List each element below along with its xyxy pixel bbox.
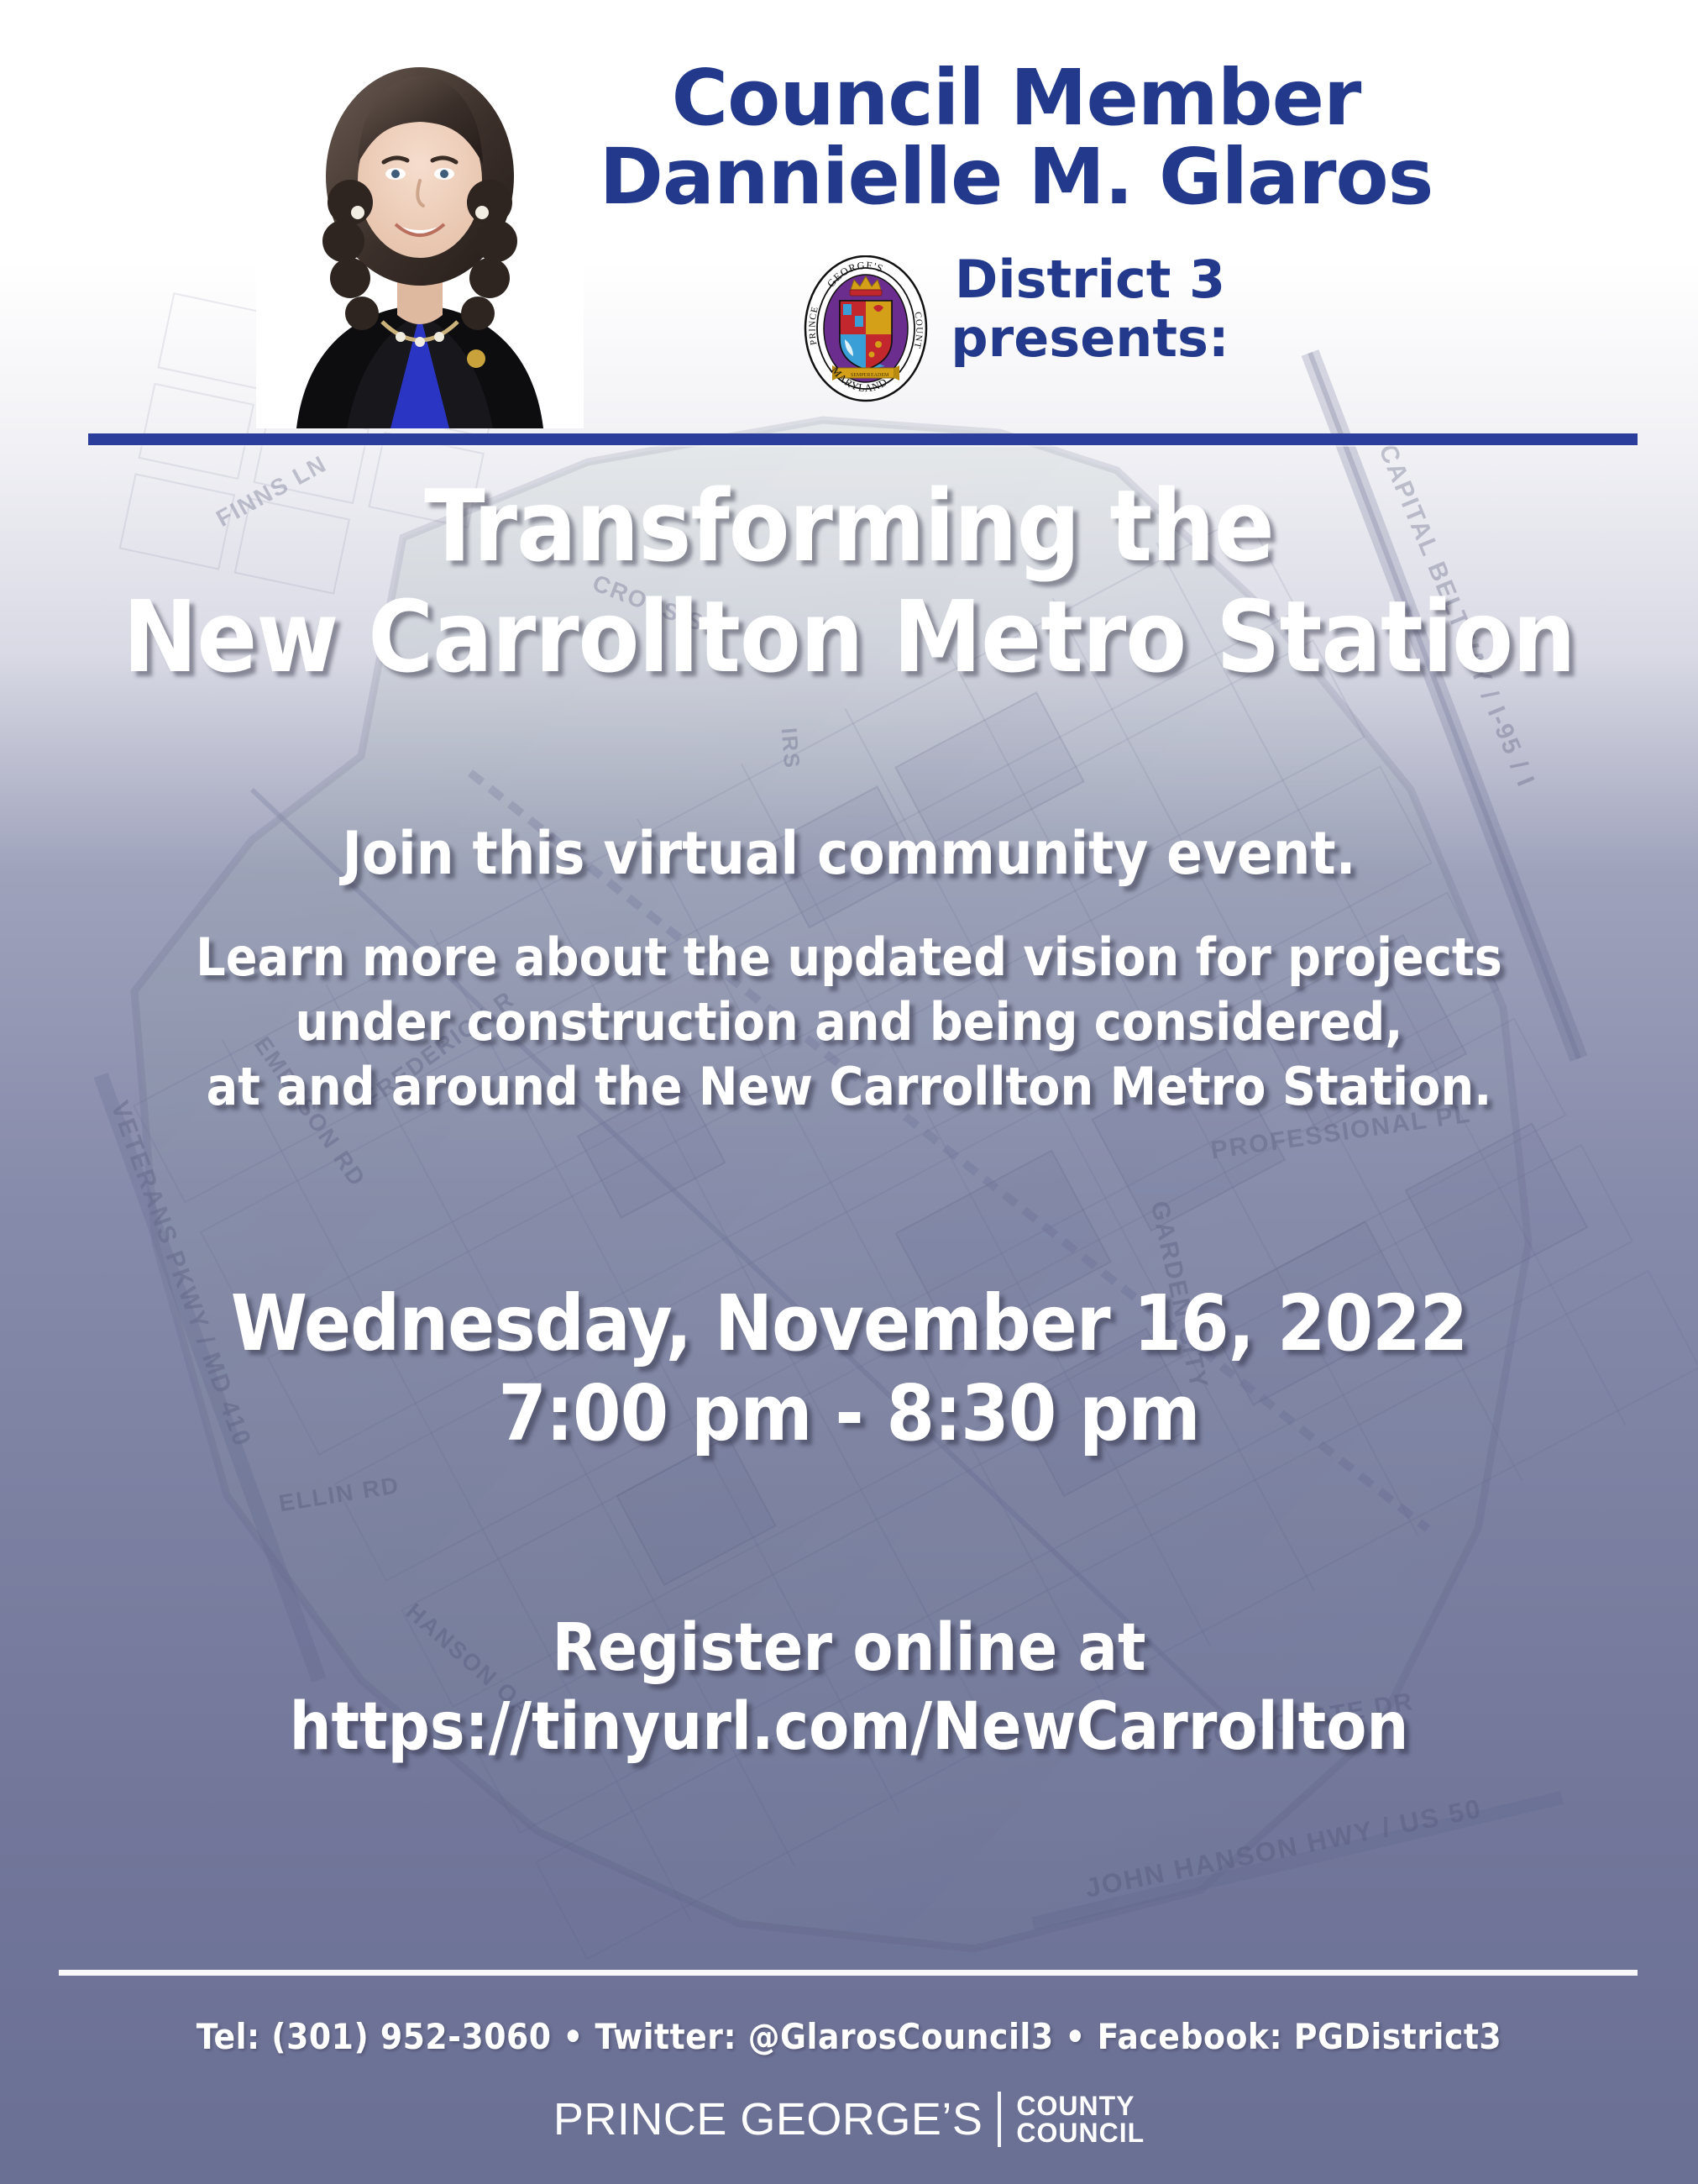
footer-divider <box>59 1970 1638 1976</box>
event-description-line2: under construction and being considered, <box>59 990 1639 1055</box>
brand-council: COUNCIL <box>1016 2119 1145 2146</box>
poster-header: Council Member Dannielle M. Glaros <box>0 0 1698 445</box>
seal-ribbon-right: EADEM <box>871 373 889 378</box>
council-member-portrait <box>256 46 584 428</box>
council-member-name-block: Council Member Dannielle M. Glaros <box>571 59 1461 217</box>
event-title-line2: New Carrollton Metro Station <box>50 581 1648 692</box>
poster-body: Transforming the New Carrollton Metro St… <box>0 470 1698 1767</box>
county-council-logo: PRINCE GEORGE’S COUNTY COUNCIL <box>0 2092 1698 2147</box>
event-date: Wednesday, November 16, 2022 <box>50 1279 1648 1369</box>
event-datetime: Wednesday, November 16, 2022 7:00 pm - 8… <box>50 1279 1648 1458</box>
header-line-member-name: Dannielle M. Glaros <box>571 138 1461 217</box>
brand-county: COUNTY <box>1016 2092 1145 2119</box>
event-description-line1: Learn more about the updated vision for … <box>59 926 1639 990</box>
district-row: SEMPER EADEM GEORGE'S MARYLAND PRINCE CO… <box>571 252 1461 402</box>
county-seal-icon: SEMPER EADEM GEORGE'S MARYLAND PRINCE CO… <box>803 255 929 402</box>
district-label: District 3 <box>955 252 1225 307</box>
contact-info: Tel: (301) 952-3060 • Twitter: @GlarosCo… <box>0 2016 1698 2057</box>
brand-prince-georges: PRINCE GEORGE’S <box>553 2093 983 2145</box>
brand-divider <box>998 2092 1001 2147</box>
register-url[interactable]: https://tinyurl.com/NewCarrollton <box>50 1688 1648 1767</box>
flyer-poster: FINNS LN CAPITAL BELTWAY / I-95 / I-95 C… <box>0 0 1698 2184</box>
header-line-council-member: Council Member <box>571 59 1461 138</box>
presents-label: presents: <box>951 310 1229 367</box>
event-description: Learn more about the updated vision for … <box>59 926 1639 1120</box>
event-lead: Join this virtual community event. <box>76 818 1622 889</box>
event-time: 7:00 pm - 8:30 pm <box>50 1369 1648 1459</box>
event-description-line3: at and around the New Carrollton Metro S… <box>59 1055 1639 1120</box>
header-divider <box>88 433 1638 445</box>
registration-block: Register online at https://tinyurl.com/N… <box>50 1609 1648 1767</box>
register-label: Register online at <box>50 1609 1648 1688</box>
seal-ribbon-left: SEMPER <box>851 373 870 378</box>
event-title: Transforming the New Carrollton Metro St… <box>50 470 1648 692</box>
event-title-line1: Transforming the <box>50 470 1648 581</box>
